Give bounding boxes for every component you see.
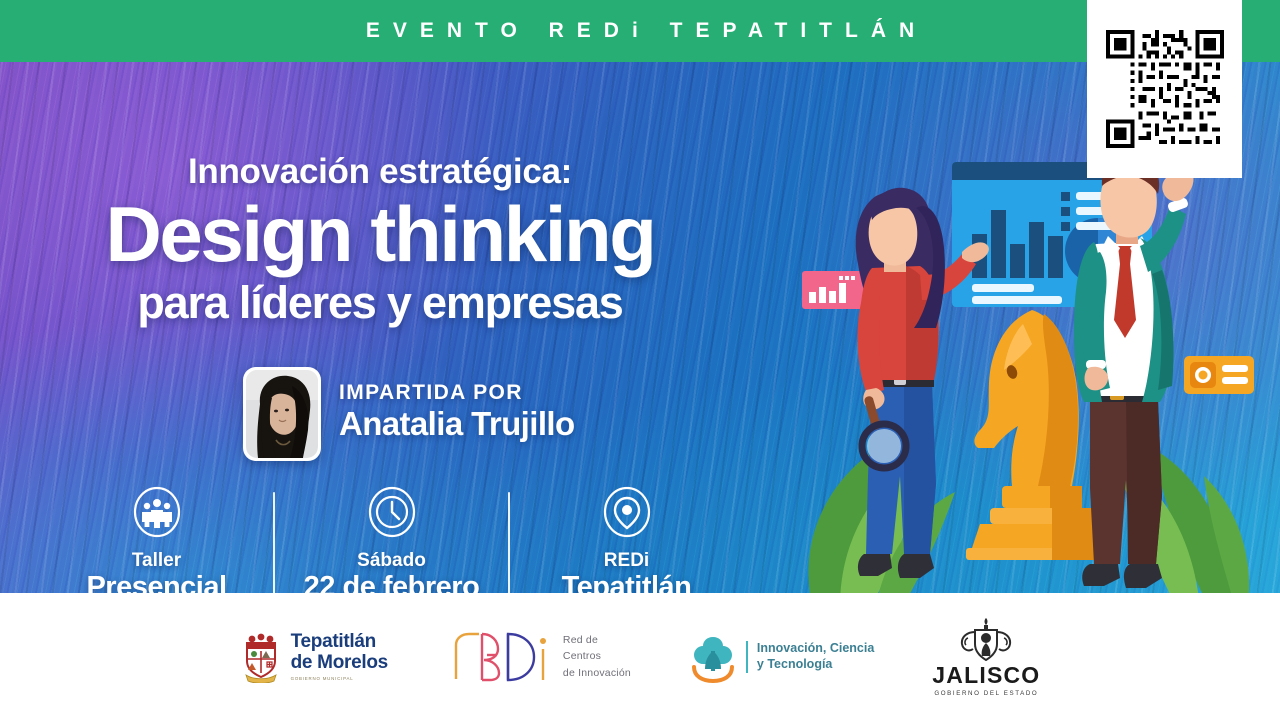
detail-venue-text: REDi Tepatitlán bbox=[562, 550, 692, 593]
qr-code[interactable] bbox=[1106, 30, 1224, 148]
speaker-portrait-frame bbox=[243, 367, 321, 461]
tepatitlan-de-morelos-logo: Tepatitlán de Morelos GOBIERNO MUNICIPAL bbox=[240, 631, 388, 683]
location-pin-icon bbox=[601, 486, 653, 538]
detail-date-weekday: Sábado bbox=[304, 550, 480, 571]
detail-date-text: Sábado 22 de febrero 10:00 a 14:00 h bbox=[304, 550, 480, 593]
redi-line3: de Innovación bbox=[563, 665, 631, 681]
event-poster: EVENTO REDi TEPATITLÁN bbox=[0, 0, 1280, 720]
detail-date-value: 22 de febrero bbox=[304, 571, 480, 593]
redi-descriptor: Red de Centros de Innovación bbox=[563, 632, 631, 681]
jalisco-crest-icon bbox=[955, 616, 1017, 664]
tepatitlan-line1: Tepatitlán bbox=[291, 632, 388, 653]
headline-title: Design thinking bbox=[0, 195, 760, 273]
tepatitlan-micro-text: GOBIERNO MUNICIPAL bbox=[291, 676, 388, 681]
icyt-wordmark: Innovación, Ciencia y Tecnología bbox=[757, 641, 874, 672]
tepatitlan-wordmark: Tepatitlán de Morelos GOBIERNO MUNICIPAL bbox=[291, 632, 388, 680]
icyt-line1: Innovación, Ciencia bbox=[757, 641, 874, 657]
detail-venue-large: Tepatitlán bbox=[562, 571, 692, 593]
jalisco-gobierno-del-estado-logo: JALISCO GOBIERNO DEL ESTADO bbox=[932, 616, 1040, 697]
detail-modality: Taller Presencial bbox=[40, 486, 273, 593]
speaker-text: IMPARTIDA POR Anatalia Trujillo bbox=[339, 381, 575, 447]
icyt-flower-icon bbox=[689, 631, 737, 683]
headline-block: Innovación estratégica: Design thinking … bbox=[0, 154, 760, 326]
speaker-block: IMPARTIDA POR Anatalia Trujillo bbox=[243, 367, 575, 461]
redi-line2: Centros bbox=[563, 648, 631, 664]
detail-modality-text: Taller Presencial bbox=[86, 550, 226, 593]
detail-venue: REDi Tepatitlán bbox=[510, 486, 743, 593]
detail-modality-small: Taller bbox=[86, 550, 226, 571]
headline-kicker: Innovación estratégica: bbox=[0, 154, 760, 191]
jalisco-subtitle: GOBIERNO DEL ESTADO bbox=[934, 690, 1038, 697]
top-banner-text: EVENTO REDi TEPATITLÁN bbox=[353, 19, 927, 43]
redi-wordmark-icon bbox=[446, 629, 554, 685]
detail-date: Sábado 22 de febrero 10:00 a 14:00 h bbox=[275, 486, 508, 593]
detail-venue-small: REDi bbox=[562, 550, 692, 571]
qr-code-card[interactable] bbox=[1087, 0, 1242, 178]
tepatitlan-crest-icon bbox=[240, 631, 282, 683]
avatar bbox=[246, 370, 318, 458]
innovacion-ciencia-tecnologia-logo: Innovación, Ciencia y Tecnología bbox=[689, 631, 874, 683]
redi-red-de-centros-logo: Red de Centros de Innovación bbox=[446, 629, 631, 685]
headline-subtitle: para líderes y empresas bbox=[0, 279, 760, 326]
icyt-line2: y Tecnología bbox=[757, 657, 874, 673]
event-details-strip: Taller Presencial Sábado 22 de febrero 1… bbox=[40, 486, 760, 593]
footer-logo-bar: Tepatitlán de Morelos GOBIERNO MUNICIPAL… bbox=[0, 593, 1280, 720]
pink-chart-card bbox=[802, 271, 864, 309]
speaker-label: IMPARTIDA POR bbox=[339, 381, 575, 404]
speaker-name: Anatalia Trujillo bbox=[339, 406, 575, 443]
tepatitlan-line2: de Morelos bbox=[291, 653, 388, 674]
people-group-icon bbox=[131, 486, 183, 538]
business-strategy-illustration bbox=[780, 124, 1280, 593]
icyt-divider bbox=[746, 641, 748, 673]
clock-icon bbox=[366, 486, 418, 538]
orange-profile-card bbox=[1184, 356, 1254, 394]
jalisco-wordmark: JALISCO bbox=[932, 664, 1040, 687]
redi-line1: Red de bbox=[563, 632, 631, 648]
detail-modality-large: Presencial bbox=[86, 571, 226, 593]
